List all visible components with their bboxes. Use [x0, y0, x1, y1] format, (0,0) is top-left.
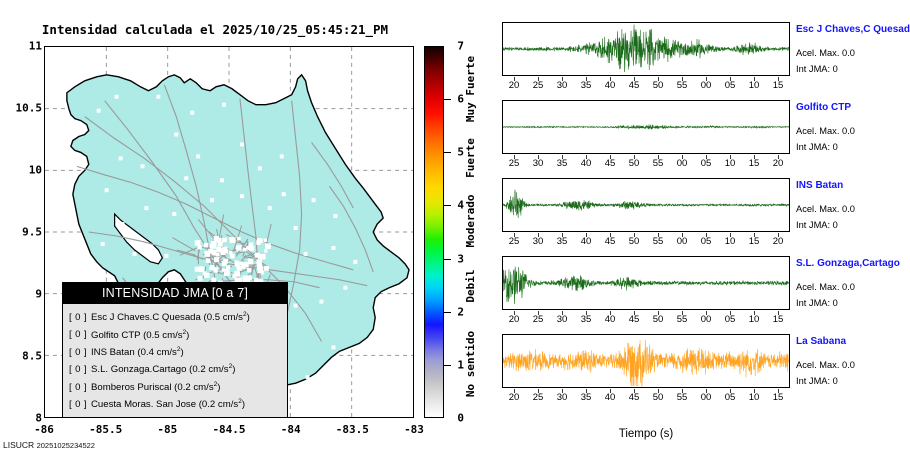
legend-station-accel: (0.5 cm/s2): [201, 312, 250, 323]
city-marker: [101, 242, 105, 246]
city-marker: [140, 164, 144, 168]
city-marker: [224, 249, 229, 254]
city-marker: [256, 259, 261, 264]
map-x-axis: -86-85.5-85-84.5-84-83.5-83: [44, 423, 414, 439]
colorbar-tick-label: 3: [448, 252, 464, 265]
map-y-tick: 10: [0, 164, 42, 177]
city-marker: [234, 271, 240, 277]
intensity-colorbar: 76543210Muy FuerteFuerteModeradoDebilNo …: [424, 46, 470, 418]
map-y-tick: 8.5: [0, 350, 42, 363]
time-tick-row: 202530354045505500051015: [502, 311, 790, 325]
legend-intensity-value: [ 0 ]: [69, 399, 87, 410]
city-marker: [204, 273, 209, 278]
city-marker: [320, 300, 324, 304]
map-y-tick: 11: [0, 40, 42, 53]
city-marker: [294, 304, 298, 308]
city-marker: [222, 238, 227, 243]
station-name-label[interactable]: Esc J Chaves,C Quesada: [796, 24, 910, 35]
legend-station-name: S.L. Gonzaga.Cartago: [91, 364, 186, 375]
map-x-tick: -84: [261, 423, 321, 436]
city-marker: [249, 246, 254, 251]
station-name-label[interactable]: S.L. Gonzaga,Cartago: [796, 258, 900, 269]
city-marker: [331, 246, 335, 250]
station-name-label[interactable]: INS Batan: [796, 180, 843, 191]
legend-station-row: [ 0 ]INS Batan (0.4 cm/s2): [69, 343, 287, 360]
city-marker: [196, 154, 200, 158]
city-marker: [222, 103, 226, 107]
city-marker: [223, 259, 228, 264]
waveform-trace: [503, 101, 789, 153]
station-accel-max: Acel. Max. 0.0: [796, 48, 855, 58]
colorbar-tick-label: 6: [448, 93, 464, 106]
legend-station-row: [ 0 ]Esc J Chaves.C Quesada (0.5 cm/s2): [69, 308, 287, 325]
city-marker: [121, 222, 125, 226]
waveform-trace: [503, 257, 789, 309]
legend-station-accel: (0.2 cm/s2): [172, 382, 221, 393]
map-x-tick: -85.5: [76, 423, 136, 436]
time-tick-label: 15: [763, 80, 793, 91]
seismogram-plot[interactable]: [502, 334, 790, 388]
map-title: Intensidad calculada el 2025/10/25_05:45…: [0, 22, 430, 37]
city-marker: [230, 254, 235, 259]
city-marker: [240, 194, 244, 198]
city-marker: [265, 243, 271, 249]
city-marker: [190, 111, 194, 115]
seismogram-plot[interactable]: [502, 178, 790, 232]
station-accel-max: Acel. Max. 0.0: [796, 126, 855, 136]
city-marker: [174, 133, 178, 137]
map-x-tick: -83: [384, 423, 444, 436]
city-marker: [204, 243, 208, 247]
legend-station-row: [ 0 ]Bomberos Puriscal (0.2 cm/s2): [69, 378, 287, 395]
station-int-jma: Int JMA: 0: [796, 376, 838, 386]
city-marker: [214, 257, 219, 262]
city-marker: [156, 95, 160, 99]
legend-intensity-value: [ 0 ]: [69, 312, 87, 323]
city-marker: [264, 266, 269, 271]
city-marker: [144, 206, 148, 210]
city-marker: [172, 212, 176, 216]
city-marker: [210, 198, 214, 202]
map-y-tick: 10.5: [0, 102, 42, 115]
legend-station-accel: (0.4 cm/s2): [135, 347, 184, 358]
seismogram-plot[interactable]: [502, 100, 790, 154]
city-marker: [243, 248, 246, 251]
station-accel-max: Acel. Max. 0.0: [796, 282, 855, 292]
city-marker: [240, 142, 244, 146]
legend-station-accel: (0.2 cm/s2): [186, 364, 235, 375]
city-marker: [211, 241, 217, 247]
legend-intensity-value: [ 0 ]: [69, 347, 87, 358]
waveform-trace: [503, 23, 789, 75]
map-y-tick: 9.5: [0, 226, 42, 239]
waveform-trace: [503, 335, 789, 387]
colorbar-tick-label: 4: [448, 199, 464, 212]
time-tick-row: 202530354045505500051015: [502, 77, 790, 91]
city-marker: [306, 375, 310, 379]
footer-timestamp: 20251025234522: [37, 441, 95, 450]
city-marker: [280, 154, 284, 158]
legend-station-name: Cuesta Moras. San Jose: [91, 399, 196, 410]
station-accel-max: Acel. Max. 0.0: [796, 360, 855, 370]
legend-station-row: [ 0 ]Golfito CTP (0.5 cm/s2): [69, 325, 287, 342]
city-marker: [222, 268, 226, 272]
city-marker: [353, 260, 357, 264]
city-marker: [264, 239, 267, 242]
legend-station-name: Golfito CTP: [91, 330, 140, 341]
city-marker: [199, 266, 205, 272]
city-marker: [164, 254, 168, 258]
city-marker: [268, 206, 272, 210]
colorbar-tick-label: 7: [448, 40, 464, 53]
waveform-trace: [503, 179, 789, 231]
seismogram-panel: Tiempo (s) 202530354045505500051015Esc J…: [470, 0, 910, 460]
city-marker: [198, 245, 202, 249]
city-marker: [235, 262, 240, 267]
city-marker: [258, 166, 262, 170]
time-tick-label: 15: [763, 314, 793, 325]
station-accel-max: Acel. Max. 0.0: [796, 204, 855, 214]
city-marker: [195, 240, 201, 246]
legend-title: INTENSIDAD JMA [0 a 7]: [63, 283, 287, 304]
station-int-jma: Int JMA: 0: [796, 220, 838, 230]
map-x-tick: -83.5: [322, 423, 382, 436]
station-int-jma: Int JMA: 0: [796, 142, 838, 152]
time-tick-row: 253035404550550005101520: [502, 155, 790, 169]
legend-station-name: Esc J Chaves.C Quesada: [91, 312, 201, 323]
station-name-label[interactable]: La Sabana: [796, 336, 846, 347]
city-marker: [226, 265, 230, 269]
legend-station-name: Bomberos Puriscal: [91, 382, 172, 393]
map-x-tick: -85: [137, 423, 197, 436]
city-marker: [216, 253, 220, 257]
legend-intensity-value: [ 0 ]: [69, 330, 87, 341]
city-marker: [236, 245, 241, 250]
city-marker: [247, 268, 251, 272]
city-marker: [333, 214, 337, 218]
station-int-jma: Int JMA: 0: [796, 298, 838, 308]
city-marker: [115, 95, 119, 99]
city-marker: [97, 109, 101, 113]
legend-station-row: [ 0 ]S.L. Gonzaga.Cartago (0.2 cm/s2): [69, 360, 287, 377]
city-marker: [282, 192, 286, 196]
city-marker: [218, 242, 223, 247]
colorbar-tick-label: 1: [448, 358, 464, 371]
intensity-legend: INTENSIDAD JMA [0 a 7] [ 0 ]Esc J Chaves…: [62, 282, 288, 418]
seismogram-plot[interactable]: [502, 22, 790, 76]
city-marker: [237, 266, 242, 271]
footer-agency: LISUCR: [3, 440, 34, 450]
city-marker: [240, 262, 244, 266]
city-marker: [304, 252, 308, 256]
city-marker: [259, 239, 263, 243]
city-marker: [208, 249, 213, 254]
map-x-tick: -86: [14, 423, 74, 436]
time-tick-row: 253035404550550005101520: [502, 233, 790, 247]
legend-intensity-value: [ 0 ]: [69, 382, 87, 393]
legend-intensity-value: [ 0 ]: [69, 364, 87, 375]
city-marker: [258, 267, 264, 273]
legend-station-accel: (0.5 cm/s2): [140, 330, 189, 341]
city-marker: [119, 156, 123, 160]
city-marker: [343, 286, 347, 290]
city-marker: [220, 251, 224, 255]
city-marker: [220, 178, 224, 182]
seismogram-plot[interactable]: [502, 256, 790, 310]
city-marker: [248, 259, 254, 265]
city-marker: [258, 255, 262, 259]
city-marker: [230, 238, 235, 243]
city-marker: [331, 345, 335, 349]
station-int-jma: Int JMA: 0: [796, 64, 838, 74]
map-panel: Intensidad calculada el 2025/10/25_05:45…: [0, 0, 470, 460]
colorbar-tick-label: 5: [448, 146, 464, 159]
legend-station-name: INS Batan: [91, 347, 135, 358]
legend-station-accel: (0.2 cm/s2): [196, 399, 245, 410]
time-tick-row: 202530354045505500051015: [502, 389, 790, 403]
colorbar-tick-label: 0: [448, 412, 464, 425]
city-marker: [237, 237, 241, 241]
footer-credit: LISUCR 20251025234522: [3, 440, 95, 450]
legend-station-row: [ 0 ]Cuesta Moras. San Jose (0.2 cm/s2): [69, 395, 287, 412]
legend-station-list: [ 0 ]Esc J Chaves.C Quesada (0.5 cm/s2)[…: [63, 304, 287, 417]
city-marker: [105, 188, 109, 192]
city-marker: [197, 276, 202, 281]
city-marker: [184, 176, 188, 180]
city-marker: [312, 198, 316, 202]
city-marker: [264, 249, 267, 252]
time-tick-label: 15: [763, 392, 793, 403]
map-x-tick: -84.5: [199, 423, 259, 436]
city-marker: [206, 258, 210, 262]
city-marker: [243, 275, 249, 281]
time-tick-label: 20: [763, 236, 793, 247]
time-axis-label: Tiempo (s): [502, 428, 790, 440]
time-tick-label: 20: [763, 158, 793, 169]
colorbar-gradient: [424, 46, 444, 418]
map-y-axis: 1110.5109.598.58: [0, 46, 42, 418]
city-marker: [214, 267, 218, 271]
map-y-tick: 9: [0, 288, 42, 301]
city-marker: [133, 252, 137, 256]
station-name-label[interactable]: Golfito CTP: [796, 102, 851, 113]
colorbar-tick-label: 2: [448, 305, 464, 318]
city-marker: [294, 226, 298, 230]
